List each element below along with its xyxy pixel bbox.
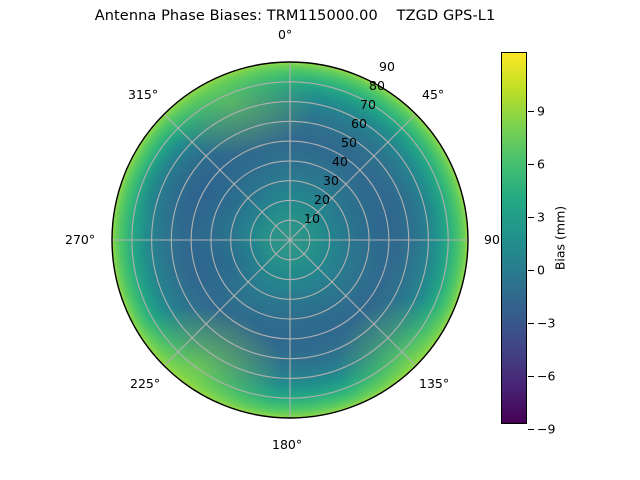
colorbar-axis-label: Bias (mm) [553,206,568,270]
angular-tick-315: 315° [128,87,158,102]
colorbar-tickmark-6 [528,164,534,165]
colorbar-tickmark-n9 [528,429,534,430]
radial-tick-60: 60 [351,116,367,131]
angular-tick-135: 135° [419,376,449,391]
colorbar-gradient [501,52,527,424]
radial-tick-80: 80 [369,78,385,93]
figure-canvas: Antenna Phase Biases: TRM115000.00 TZGD … [0,0,640,480]
page-title: Antenna Phase Biases: TRM115000.00 TZGD … [0,8,590,24]
radial-tick-40: 40 [332,154,348,169]
radial-tick-70: 70 [360,97,376,112]
colorbar-ticklabel-6: 6 [537,156,545,171]
angular-tick-0: 0° [278,27,292,42]
colorbar: 9 6 3 0 −3 −6 −9 [501,52,527,424]
colorbar-ticklabel-3: 3 [537,209,545,224]
colorbar-tickmark-n3 [528,323,534,324]
polar-grid-spokes [112,62,468,418]
radial-tick-30: 30 [323,173,339,188]
colorbar-ticklabel-n3: −3 [537,316,555,331]
colorbar-tickmark-0 [528,270,534,271]
radial-tick-10: 10 [304,211,320,226]
colorbar-ticklabel-n9: −9 [537,422,555,437]
colorbar-ticklabel-0: 0 [537,262,545,277]
radial-tick-50: 50 [341,135,357,150]
colorbar-tickmark-9 [528,111,534,112]
angular-tick-180: 180° [272,437,302,452]
radial-tick-90: 90 [379,59,395,74]
angular-tick-270: 270° [65,232,95,247]
angular-tick-90: 90 [484,232,500,247]
angular-tick-45: 45° [422,87,444,102]
angular-tick-225: 225° [130,376,160,391]
polar-axes: 10 20 30 40 50 60 70 80 90 [111,61,469,419]
radial-tick-20: 20 [314,192,330,207]
colorbar-tickmark-3 [528,217,534,218]
colorbar-ticklabel-9: 9 [537,103,545,118]
colorbar-ticklabel-n6: −6 [537,369,555,384]
polar-plot-svg [111,61,469,419]
colorbar-tickmark-n6 [528,376,534,377]
